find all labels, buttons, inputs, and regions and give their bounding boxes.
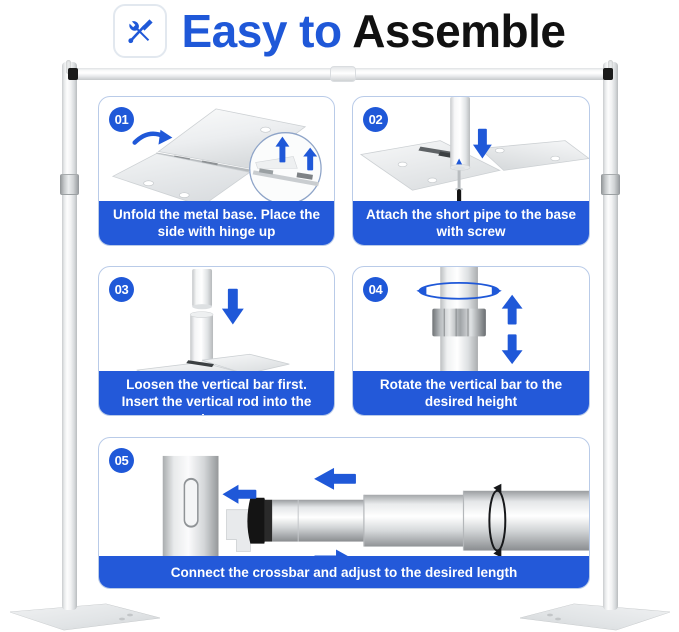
step-caption-04: Rotate the vertical bar to the desired h… [353,371,589,415]
crossbar-joint [330,66,356,82]
page-title: Easy to Assemble [181,8,565,54]
up-arrow-icon [502,295,523,325]
down-arrow-icon [502,334,523,364]
left-base-plate [10,598,160,632]
step-caption-03: Loosen the vertical bar first. Insert th… [99,371,334,415]
crossbar-right-cap [603,68,613,80]
instruction-infographic: Easy to Assemble [0,0,679,632]
left-vertical-pole [62,62,77,610]
step-card-01[interactable]: 01 Unfold the metal base. Place the side… [98,96,335,246]
right-base-plate [520,598,670,632]
step-badge-03: 03 [109,277,134,302]
left-arrow-icon-2 [314,468,356,490]
step-card-02[interactable]: 02 Attach the short pipe to the base wit… [352,96,590,246]
crossbar-left-cap [68,68,78,80]
tools-wrench-screwdriver-icon [113,4,167,58]
step-badge-01: 01 [109,107,134,132]
step-caption-01: Unfold the metal base. Place the side wi… [99,201,334,245]
step-badge-02: 02 [363,107,388,132]
step-badge-04: 04 [363,277,388,302]
down-arrow-icon [222,289,244,325]
step-badge-05: 05 [109,448,134,473]
step-card-05[interactable]: 05 Connect the crossbar and adjust to th… [98,437,590,589]
right-pole-collar [601,174,620,195]
hinge-detail-callout [250,133,321,204]
title-secondary: Assemble [352,5,565,57]
step-card-03[interactable]: 03 Loosen the vertical bar first. Insert… [98,266,335,416]
step-card-04[interactable]: 04 Rotate the vertical bar to the desire… [352,266,590,416]
step-caption-02: Attach the short pipe to the base with s… [353,201,589,245]
title-primary: Easy to [181,5,341,57]
step-caption-05: Connect the crossbar and adjust to the d… [99,556,589,588]
rotate-arrow-icon [135,130,173,145]
page-header: Easy to Assemble [0,0,679,62]
left-pole-collar [60,174,79,195]
right-vertical-pole [603,62,618,610]
